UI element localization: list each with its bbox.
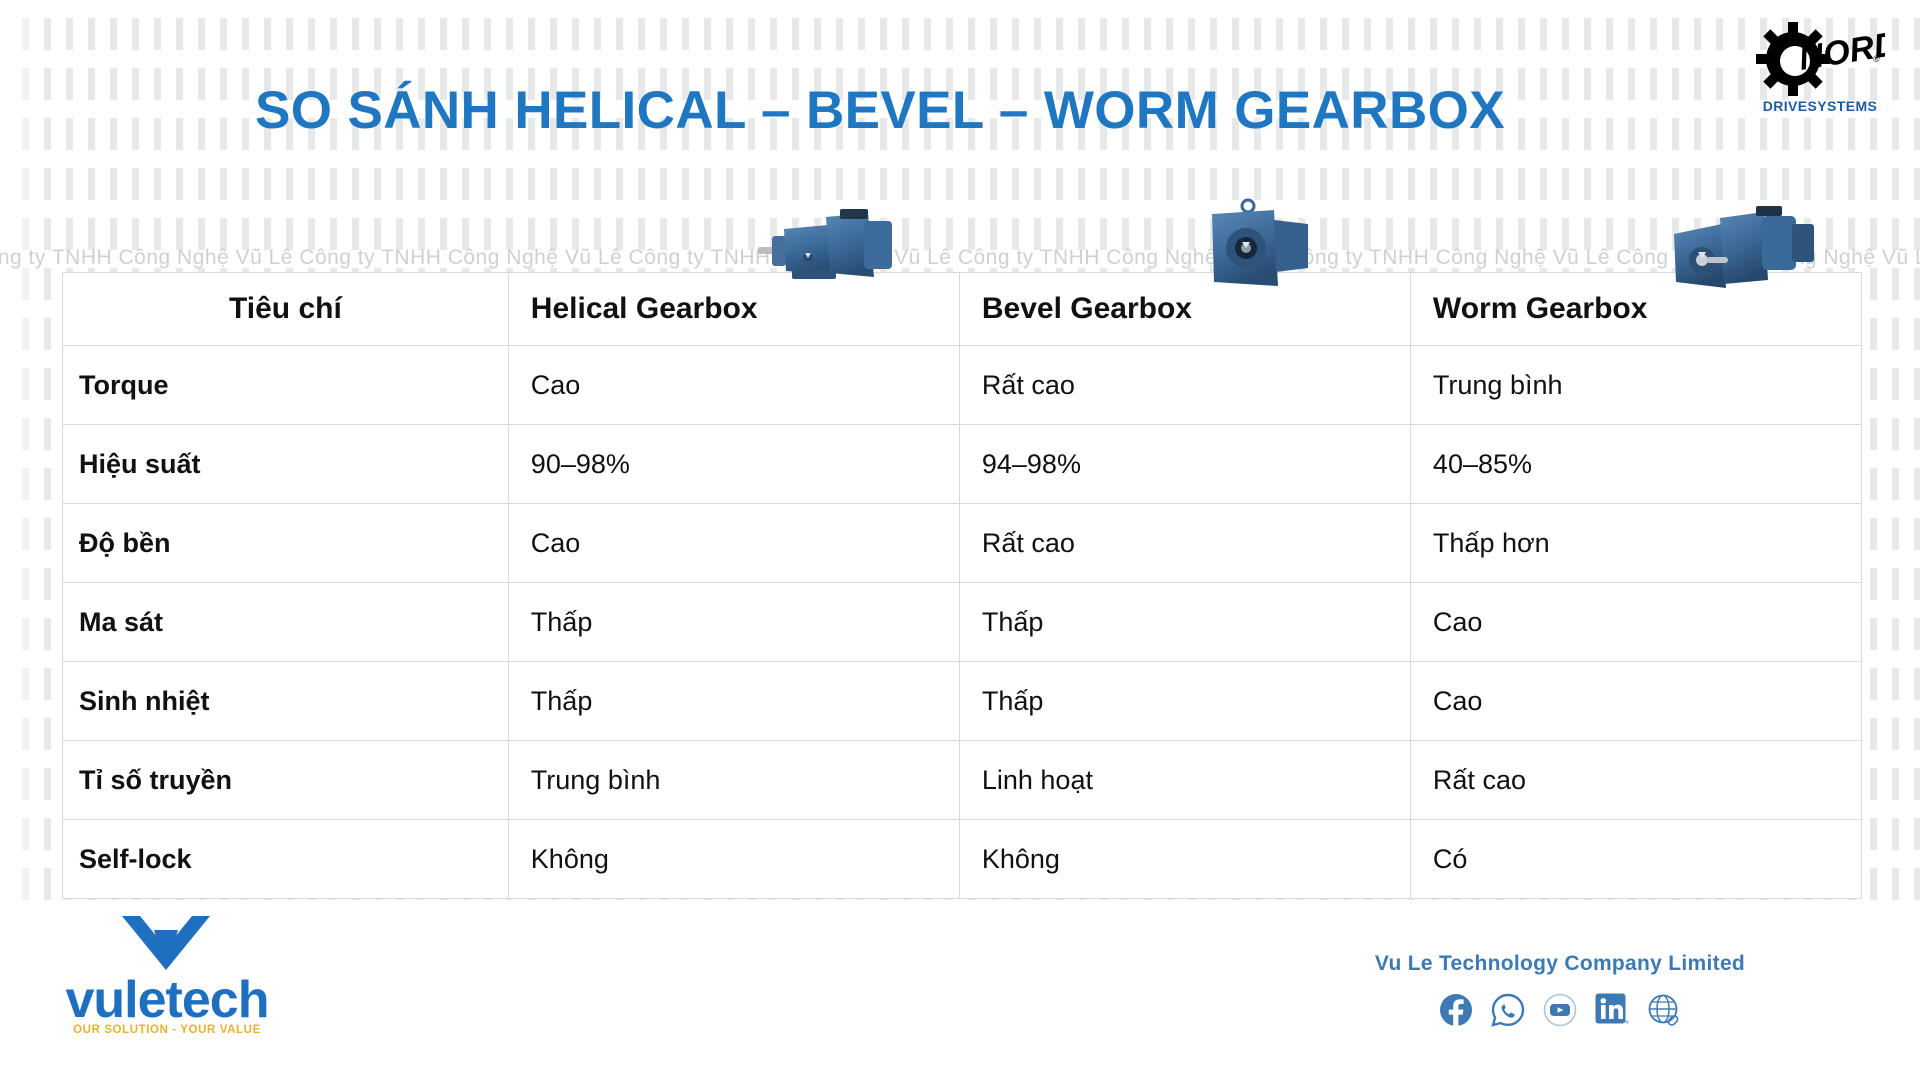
website-icon[interactable] (1646, 992, 1682, 1028)
cell-bevel: Rất cao (959, 346, 1410, 425)
cell-bevel: Linh hoạt (959, 741, 1410, 820)
cell-bevel: Thấp (959, 662, 1410, 741)
table-row: Hiệu suất90–98%94–98%40–85% (63, 425, 1862, 504)
background-left-mask (0, 0, 40, 1080)
cell-criteria: Hiệu suất (63, 425, 509, 504)
cell-criteria: Torque (63, 346, 509, 425)
vuletech-wordmark: vuletech (52, 970, 282, 1030)
cell-bevel: Không (959, 820, 1410, 899)
company-name: Vu Le Technology Company Limited (1310, 952, 1810, 976)
table-row: Tỉ số truyềnTrung bìnhLinh hoạtRất cao (63, 741, 1862, 820)
cell-criteria: Ma sát (63, 583, 509, 662)
cell-criteria: Sinh nhiệt (63, 662, 509, 741)
youtube-icon[interactable] (1542, 992, 1578, 1028)
slide-root: Công ty TNHH Công Nghệ Vũ Lê Công ty TNH… (0, 0, 1920, 1080)
cell-worm: Cao (1410, 583, 1861, 662)
svg-text:®: ® (1873, 54, 1880, 64)
cell-helical: Trung bình (508, 741, 959, 820)
vuletech-logo: vuletech OUR SOLUTION - YOUR VALUE (52, 912, 282, 1052)
nord-subtitle: DRIVESYSTEMS (1755, 98, 1885, 114)
table-row: Độ bềnCaoRất caoThấp hơn (63, 504, 1862, 583)
cell-criteria: Self-lock (63, 820, 509, 899)
cell-worm: Cao (1410, 662, 1861, 741)
vuletech-v-mark-icon (116, 912, 216, 974)
cell-helical: 90–98% (508, 425, 959, 504)
table-row: Sinh nhiệtThấpThấpCao (63, 662, 1862, 741)
cell-worm: 40–85% (1410, 425, 1861, 504)
cell-worm: Thấp hơn (1410, 504, 1861, 583)
whatsapp-icon[interactable] (1490, 992, 1526, 1028)
cell-helical: Không (508, 820, 959, 899)
cell-bevel: 94–98% (959, 425, 1410, 504)
cell-criteria: Tỉ số truyền (63, 741, 509, 820)
cell-worm: Trung bình (1410, 346, 1861, 425)
helical-gearbox-photo (752, 203, 900, 293)
table-row: TorqueCaoRất caoTrung bình (63, 346, 1862, 425)
comparison-table: Tiêu chí Helical Gearbox Bevel Gearbox W… (62, 272, 1862, 899)
cell-worm: Rất cao (1410, 741, 1861, 820)
social-links-row (1310, 992, 1810, 1028)
linkedin-icon[interactable] (1594, 992, 1630, 1028)
table-row: Self-lockKhôngKhôngCó (63, 820, 1862, 899)
background-bottom-mask (0, 900, 1920, 1080)
cell-bevel: Thấp (959, 583, 1410, 662)
cell-criteria: Độ bền (63, 504, 509, 583)
table-header-row: Tiêu chí Helical Gearbox Bevel Gearbox W… (63, 273, 1862, 346)
svg-text:NORD: NORD (1796, 25, 1885, 78)
vuletech-tagline: OUR SOLUTION - YOUR VALUE (52, 1024, 282, 1036)
page-title: SO SÁNH HELICAL – BEVEL – WORM GEARBOX (0, 80, 1760, 141)
nord-gear-icon: NORD ® (1755, 20, 1885, 98)
column-header-criteria: Tiêu chí (63, 273, 509, 346)
cell-helical: Thấp (508, 662, 959, 741)
table-header: Tiêu chí Helical Gearbox Bevel Gearbox W… (63, 273, 1862, 346)
cell-helical: Cao (508, 504, 959, 583)
cell-helical: Thấp (508, 583, 959, 662)
cell-worm: Có (1410, 820, 1861, 899)
cell-bevel: Rất cao (959, 504, 1410, 583)
nord-logo: NORD ® DRIVESYSTEMS (1755, 20, 1885, 130)
table-row: Ma sátThấpThấpCao (63, 583, 1862, 662)
table-body: TorqueCaoRất caoTrung bìnhHiệu suất90–98… (63, 346, 1862, 899)
cell-helical: Cao (508, 346, 959, 425)
column-header-bevel: Bevel Gearbox (959, 273, 1410, 346)
facebook-icon[interactable] (1438, 992, 1474, 1028)
worm-gearbox-photo (1660, 200, 1820, 298)
watermark-text: Công ty TNHH Công Nghệ Vũ Lê Công ty TNH… (0, 246, 1920, 270)
bevel-gearbox-photo (1196, 198, 1316, 298)
